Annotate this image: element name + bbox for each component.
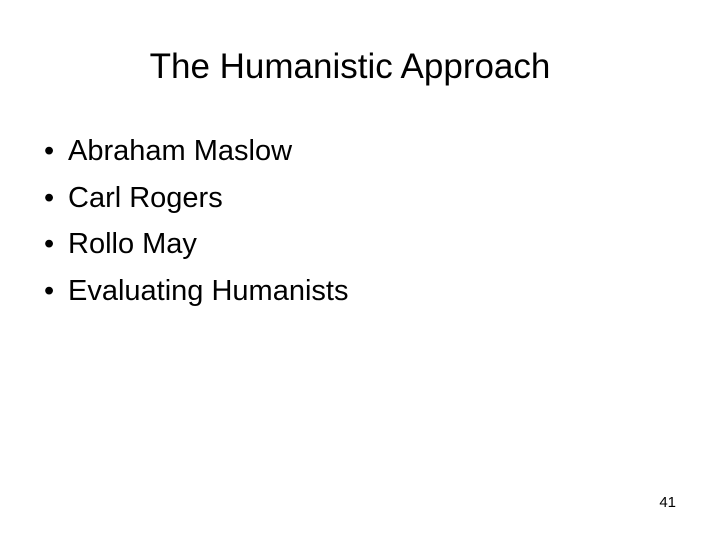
list-item-label: Rollo May xyxy=(68,228,197,260)
bullet-list: • Abraham Maslow • Carl Rogers • Rollo M… xyxy=(36,128,684,314)
presentation-slide: The Humanistic Approach • Abraham Maslow… xyxy=(0,0,720,540)
list-item-label: Evaluating Humanists xyxy=(68,275,348,307)
bullet-dot-icon: • xyxy=(44,268,60,315)
bullet-dot-icon: • xyxy=(44,175,60,222)
list-item: • Evaluating Humanists xyxy=(36,268,684,315)
list-item: • Abraham Maslow xyxy=(36,128,684,175)
slide-title: The Humanistic Approach xyxy=(36,46,664,88)
list-item-label: Carl Rogers xyxy=(68,182,223,214)
bullet-dot-icon: • xyxy=(44,128,60,175)
list-item: • Carl Rogers xyxy=(36,175,684,222)
list-item: • Rollo May xyxy=(36,221,684,268)
bullet-dot-icon: • xyxy=(44,221,60,268)
slide-body-placeholder: • Abraham Maslow • Carl Rogers • Rollo M… xyxy=(36,128,684,314)
list-item-label: Abraham Maslow xyxy=(68,135,292,167)
slide-number: 41 xyxy=(659,494,676,511)
